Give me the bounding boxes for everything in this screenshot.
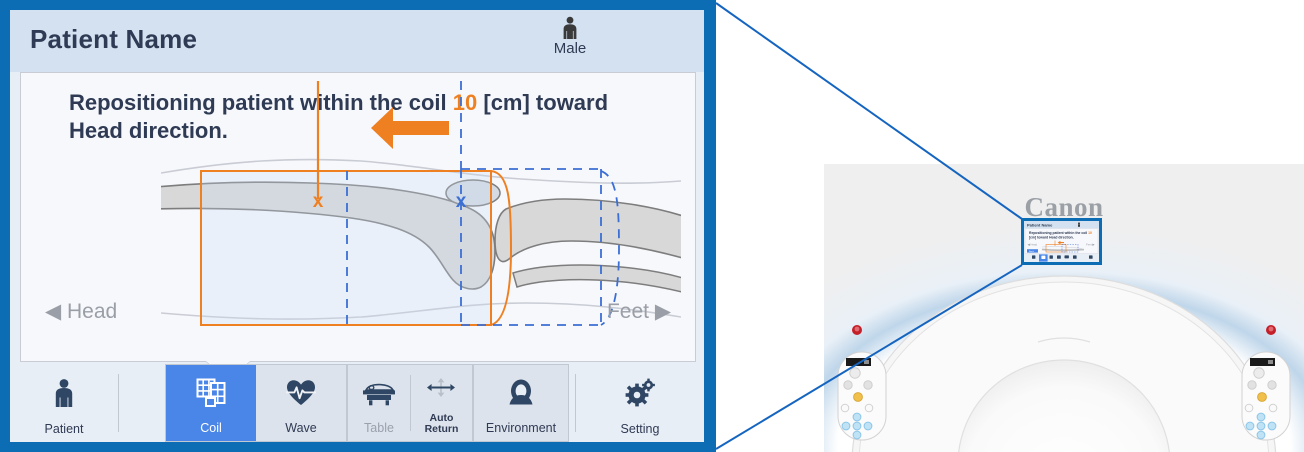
fibula-bone: [513, 265, 681, 293]
mini-instruction-line2: [cm] toward Head direction.: [1029, 235, 1074, 239]
panel-button[interactable]: [841, 404, 849, 412]
toolbar-item-table[interactable]: Table: [348, 365, 410, 441]
panel-button-blue[interactable]: [853, 422, 861, 430]
patient-gender-label: Male: [530, 41, 610, 58]
toolbar-item-auto-return[interactable]: Auto Return: [411, 365, 472, 441]
anatomy-svg: x x: [161, 81, 681, 356]
scanner-gantry-photo: Canon: [824, 164, 1304, 452]
panel-button-blue[interactable]: [864, 422, 872, 430]
mini-screen-svg: Patient Name Repositioning patient withi…: [1024, 221, 1099, 262]
move-direction-arrow: [371, 107, 449, 149]
panel-button[interactable]: [844, 381, 852, 389]
panel-button-blue[interactable]: [1246, 422, 1254, 430]
panel-button-blue[interactable]: [1268, 422, 1276, 430]
right-chevron-icon: ▶: [655, 300, 671, 323]
control-panel-left[interactable]: [838, 352, 886, 440]
toolbar-group-environment: Environment: [473, 364, 569, 442]
toolbar-item-patient[interactable]: Patient: [10, 364, 118, 442]
panel-button-blue[interactable]: [853, 431, 861, 439]
left-chevron-icon: ◀: [45, 300, 61, 323]
toolbar-label-patient: Patient: [45, 423, 84, 436]
gantry-svg: Canon: [824, 164, 1304, 452]
gears-icon: [624, 364, 656, 423]
toolbar-item-coil[interactable]: Coil: [166, 365, 256, 441]
toolbar-group-coil-wave: Coil Wave: [165, 364, 347, 442]
panel-button[interactable]: [865, 404, 873, 412]
panel-button-amber[interactable]: [1258, 393, 1267, 402]
person-icon: [51, 364, 77, 423]
toolbar-label-environment: Environment: [486, 422, 556, 435]
toolbar-label-setting: Setting: [621, 423, 660, 436]
console-header: Patient Name Male: [10, 10, 704, 72]
toolbar-label-table: Table: [364, 422, 394, 435]
target-position-marker: x: [456, 191, 467, 212]
mini-instruction-line1: Repositioning patient within the coil 10: [1029, 231, 1092, 235]
panel-button[interactable]: [1269, 404, 1277, 412]
head-label-text: Head: [67, 300, 117, 323]
mini-head-label: ◀ Head: [1028, 243, 1038, 247]
console-screen: Patient Name Male Repositioning patient …: [10, 10, 704, 442]
bottom-toolbar: Patient: [10, 364, 704, 442]
panel-button[interactable]: [1268, 381, 1276, 389]
panel-button-blue[interactable]: [1257, 413, 1265, 421]
panel-button-blue[interactable]: [853, 413, 861, 421]
knee-positioning-diagram: x x: [161, 81, 681, 356]
feet-label-text: Feet: [607, 300, 649, 323]
current-position-marker: x: [313, 191, 324, 212]
mini-patient-name: Patient Name: [1027, 222, 1053, 227]
toolbar-item-environment[interactable]: Environment: [474, 365, 568, 441]
camera-lens-icon: [506, 365, 536, 422]
coil-grid-icon: [196, 365, 226, 422]
head-direction-label: ◀ Head: [45, 299, 117, 324]
patient-gender: Male: [530, 16, 610, 58]
toolbar-group-table-autoreturn: Table Auto Return: [347, 364, 473, 442]
toolbar-label-coil: Coil: [200, 422, 222, 435]
feet-direction-label: Feet ▶: [607, 299, 671, 324]
control-panel-right[interactable]: [1242, 352, 1290, 440]
panel-button[interactable]: [1248, 381, 1256, 389]
table-bed-icon: [361, 365, 397, 422]
toolbar-item-setting[interactable]: Setting: [576, 364, 704, 442]
console-screen-callout: Patient Name Male Repositioning patient …: [0, 0, 716, 452]
mini-feet-label: Feet ▶: [1086, 243, 1095, 247]
toolbar-label-wave: Wave: [285, 422, 317, 435]
person-icon: [559, 16, 581, 40]
panel-button-blue[interactable]: [1257, 422, 1265, 430]
panel-button[interactable]: [1245, 404, 1253, 412]
panel-button[interactable]: [864, 381, 872, 389]
toolbar-gap: [119, 364, 165, 442]
page-title: Patient Name: [30, 24, 197, 55]
panel-button-blue[interactable]: [842, 422, 850, 430]
panel-button-amber[interactable]: [854, 393, 863, 402]
coil-current-box: [201, 171, 491, 325]
auto-return-icon: [421, 365, 461, 413]
toolbar-label-auto-return: Auto Return: [425, 413, 459, 435]
gantry-console-screen-inner: Patient Name Repositioning patient withi…: [1024, 221, 1099, 262]
tibia-bone: [495, 199, 681, 262]
gantry-console-screen[interactable]: Patient Name Repositioning patient withi…: [1021, 218, 1102, 265]
toolbar-item-wave[interactable]: Wave: [256, 365, 346, 441]
instruction-card: Repositioning patient within the coil 10…: [20, 72, 696, 362]
panel-button-blue[interactable]: [1257, 431, 1265, 439]
heart-pulse-icon: [286, 365, 316, 422]
